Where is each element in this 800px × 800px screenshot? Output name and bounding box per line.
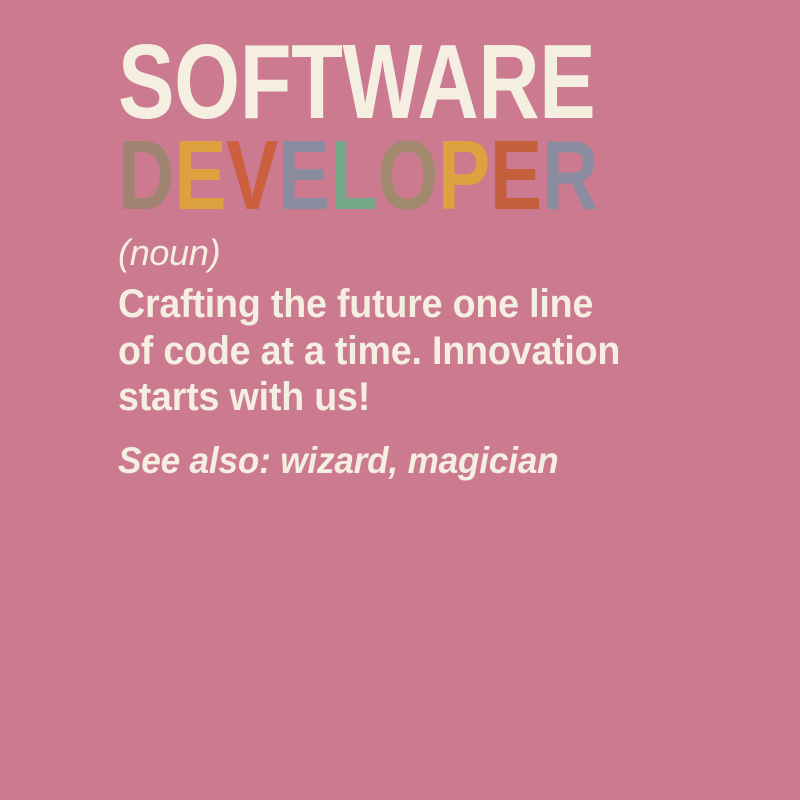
headline-letter-0: D <box>118 120 174 230</box>
headline-developer: DEVELOPER <box>118 130 614 220</box>
definition-line-1: of code at a time. Innovation <box>118 328 560 374</box>
part-of-speech: (noun) <box>118 234 738 272</box>
definition-line-2: starts with us! <box>118 374 560 420</box>
poster-canvas: SOFTWARE DEVELOPER (noun) Crafting the f… <box>0 0 800 800</box>
headline-letter-6: P <box>438 120 490 230</box>
headline-letter-1: E <box>174 120 226 230</box>
definition-text: Crafting the future one lineof code at a… <box>118 281 560 420</box>
headline-letter-3: E <box>278 120 330 230</box>
headline-letter-5: O <box>377 120 438 230</box>
poster-content: SOFTWARE DEVELOPER (noun) Crafting the f… <box>118 34 738 481</box>
see-also-text: See also: wizard, magician <box>118 441 707 482</box>
headline-software: SOFTWARE <box>118 34 614 132</box>
headline-letter-7: E <box>490 120 542 230</box>
headline-letter-4: L <box>330 120 378 230</box>
definition-line-0: Crafting the future one line <box>118 281 560 327</box>
headline-letter-8: R <box>542 120 598 230</box>
headline-letter-2: V <box>226 120 278 230</box>
